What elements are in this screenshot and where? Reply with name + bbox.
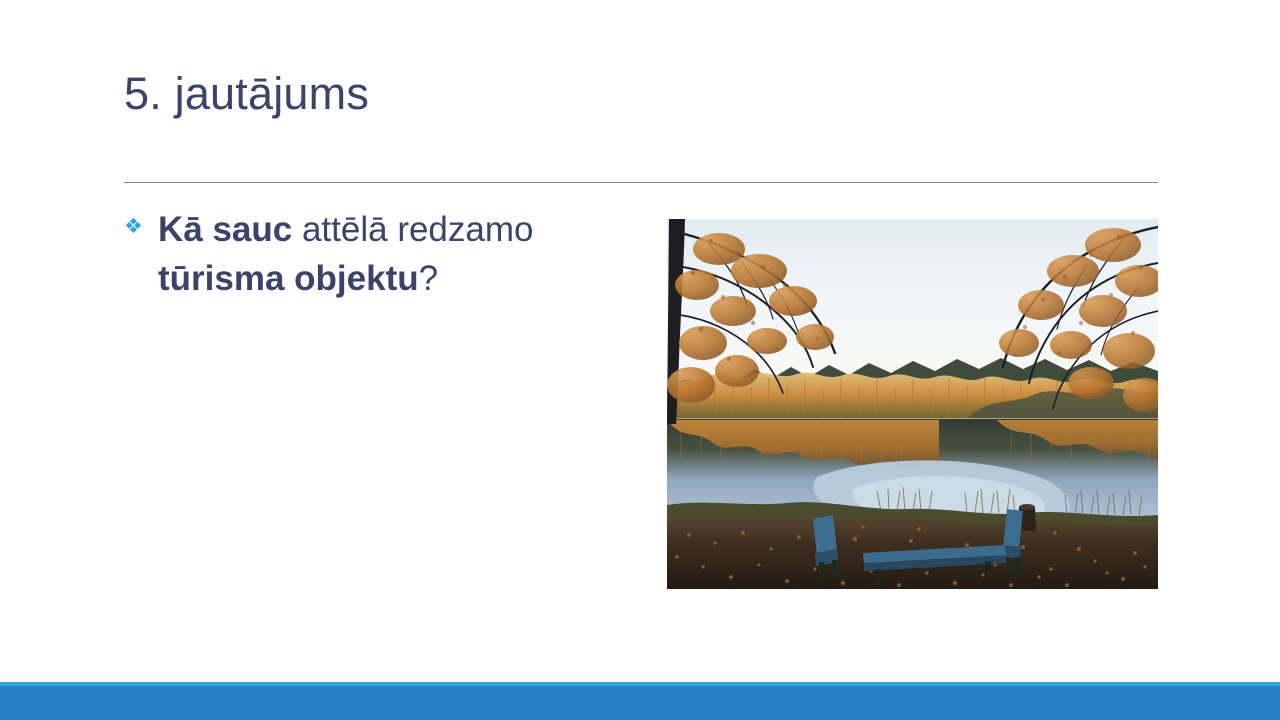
presentation-slide: 5. jautājums ❖ Kā sauc attēlā redzamo tū… — [0, 0, 1280, 720]
question-text: Kā sauc attēlā redzamo tūrisma objektu? — [158, 206, 624, 303]
list-item: ❖ Kā sauc attēlā redzamo tūrisma objektu… — [124, 206, 624, 303]
title-divider — [124, 182, 1158, 183]
footer-accent-strip — [0, 682, 1280, 686]
autumn-lake-photo — [667, 219, 1158, 589]
autumn-lake-illustration — [667, 219, 1158, 589]
question-segment-bold-1: Kā sauc — [158, 210, 302, 249]
diamond-cluster-bullet-icon: ❖ — [124, 206, 158, 237]
body-content: ❖ Kā sauc attēlā redzamo tūrisma objektu… — [124, 206, 624, 303]
page-title: 5. jautājums — [124, 68, 1164, 120]
question-segment-plain-1: attēlā redzamo — [302, 210, 534, 249]
footer-bar — [0, 682, 1280, 720]
question-segment-bold-2: tūrisma objektu — [158, 259, 419, 298]
question-segment-plain-2: ? — [419, 259, 438, 298]
